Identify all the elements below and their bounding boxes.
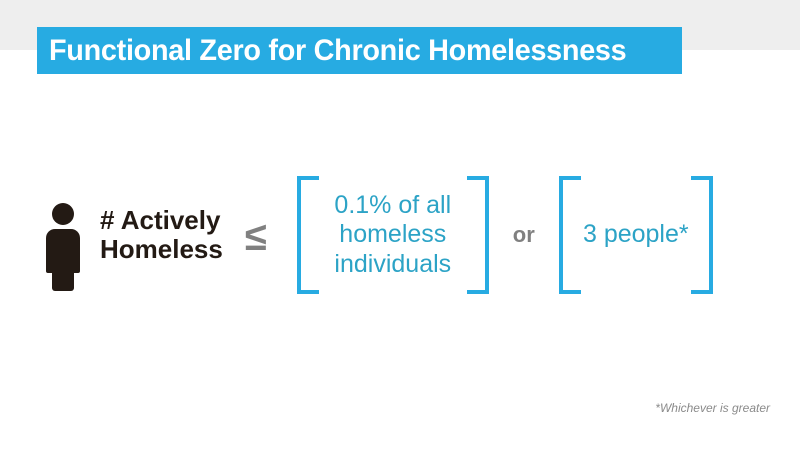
functional-zero-equation: # Actively Homeless ≤ 0.1% of all homele… [0,160,800,310]
threshold-people-value: 3 people* [581,176,691,294]
person-head-shape [52,203,74,225]
or-connector-label: or [513,224,535,246]
footnote-whichever-is-greater: *Whichever is greater [655,402,770,414]
person-pictogram-icon [40,185,86,285]
bracket-right-icon [691,176,713,294]
bracket-right-icon [467,176,489,294]
threshold-option-one-group: 0.1% of all homeless individuals [297,176,489,294]
page-title: Functional Zero for Chronic Homelessness [49,36,626,66]
bracket-left-icon [297,176,319,294]
threshold-percentage-value: 0.1% of all homeless individuals [319,176,467,294]
bracket-left-icon [559,176,581,294]
person-legs-shape [52,265,74,291]
less-than-or-equal-icon: ≤ [245,217,267,257]
threshold-option-two-group: 3 people* [559,176,713,294]
slide-canvas: { "slide": { "title": "Functional Zero f… [0,0,800,450]
actively-homeless-label: # Actively Homeless [100,206,223,264]
slide-title-ribbon: Functional Zero for Chronic Homelessness [37,27,682,74]
